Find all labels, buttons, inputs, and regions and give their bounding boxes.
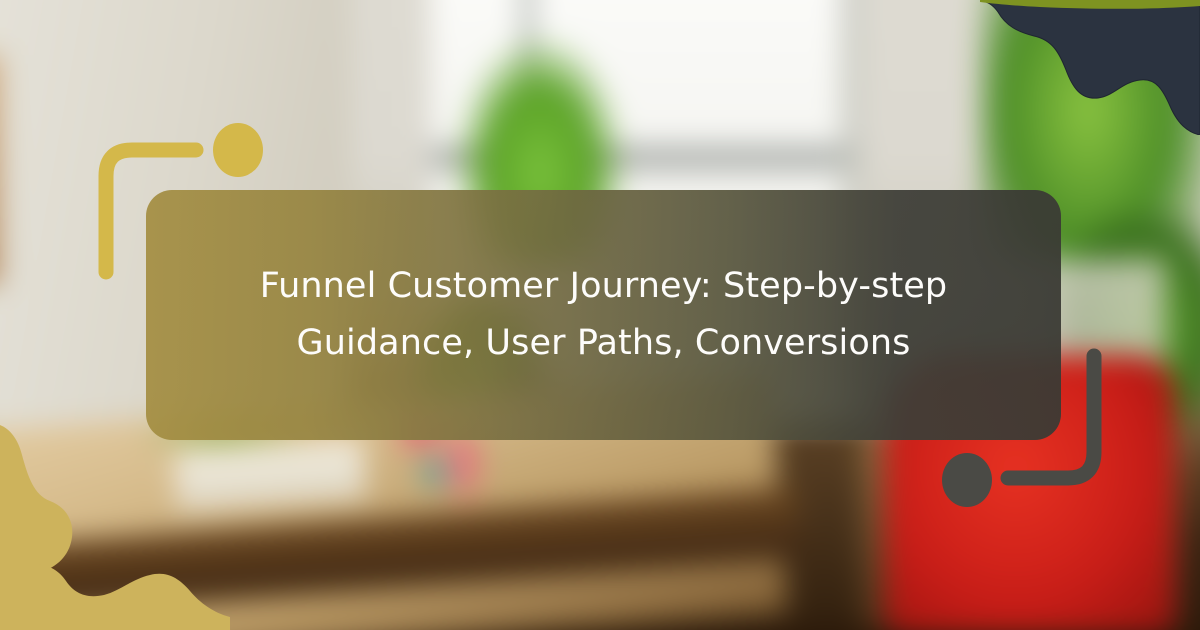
olive-accent-strip: [980, 0, 1200, 12]
background-table-object-teal: [415, 450, 455, 495]
social-card-canvas: Funnel Customer Journey: Step-by-step Gu…: [0, 0, 1200, 630]
title-card: Funnel Customer Journey: Step-by-step Gu…: [146, 190, 1061, 440]
page-title: Funnel Customer Journey: Step-by-step Gu…: [254, 258, 954, 371]
gold-corner-blob: [0, 425, 230, 630]
navy-corner-blob: [980, 0, 1200, 135]
